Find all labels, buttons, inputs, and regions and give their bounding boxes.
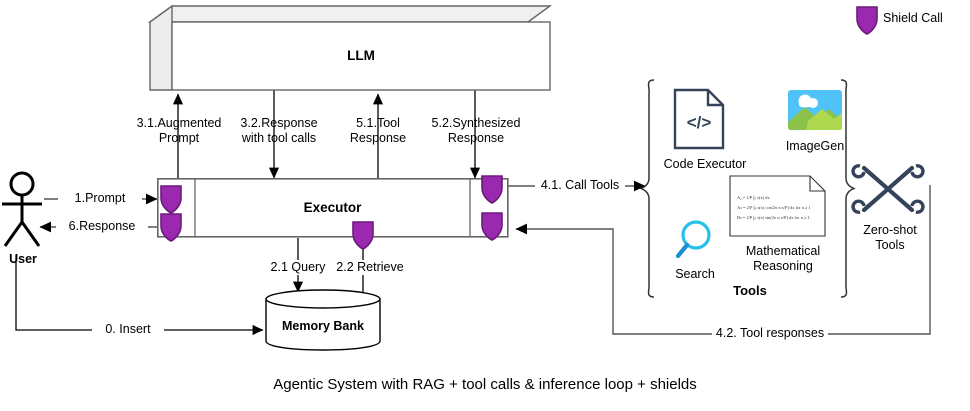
edge-label-tool-responses: 4.2. Tool responses xyxy=(712,326,828,341)
tool-imagegen[interactable]: ImageGen xyxy=(760,88,870,154)
diagram-caption: Agentic System with RAG + tool calls & i… xyxy=(0,376,970,393)
image-icon xyxy=(760,88,870,132)
tool-code-executor-label: Code Executor xyxy=(650,157,760,172)
crossed-wrenches-icon xyxy=(838,160,942,218)
shield-executor-left-top[interactable] xyxy=(161,186,181,213)
code-document-icon: </> xyxy=(650,88,760,150)
edge-label-retrieve: 2.2 Retrieve xyxy=(330,260,410,275)
memory-bank-label: Memory Bank xyxy=(265,319,381,334)
tool-zero-shot-tools[interactable]: Zero-shot Tools xyxy=(838,160,942,254)
tool-code-executor[interactable]: </> Code Executor xyxy=(650,88,760,172)
edge-label-call-tools: 4.1. Call Tools xyxy=(535,178,625,193)
svg-text:</>: </> xyxy=(687,113,712,132)
edge-label-tool-response: 5.1.Tool Response xyxy=(338,116,418,147)
edge-label-response-with-tool-calls: 3.2.Response with tool calls xyxy=(230,116,328,147)
shield-executor-bottom-center[interactable] xyxy=(353,222,373,249)
edge-label-query: 2.1 Query xyxy=(262,260,334,275)
shield-executor-left-bottom[interactable] xyxy=(161,214,181,241)
shield-icon xyxy=(856,6,878,36)
edge-label-response: 6.Response xyxy=(56,219,148,234)
tool-search[interactable]: Search xyxy=(650,218,740,282)
edge-label-insert: 0. Insert xyxy=(92,322,164,337)
edge-label-prompt: 1.Prompt xyxy=(58,191,142,206)
tool-imagegen-label: ImageGen xyxy=(760,139,870,154)
magnifier-icon xyxy=(650,218,740,264)
edge-label-augmented-prompt: 3.1.Augmented Prompt xyxy=(133,116,225,147)
legend-shield-call-label: Shield Call xyxy=(883,11,970,26)
tool-zero-shot-tools-label: Zero-shot Tools xyxy=(838,223,942,254)
shield-executor-right-bottom[interactable] xyxy=(482,213,502,240)
tool-search-label: Search xyxy=(650,267,740,282)
shield-executor-right-top[interactable] xyxy=(482,176,502,203)
user-stick-figure-icon xyxy=(0,170,50,250)
tools-group-label: Tools xyxy=(700,283,800,299)
memory-bank-node[interactable]: Memory Bank xyxy=(265,289,381,356)
user-label: User xyxy=(0,252,46,267)
user-node[interactable]: User xyxy=(0,170,50,255)
edge-label-synthesized-response: 5.2.Synthesized Response xyxy=(428,116,524,147)
